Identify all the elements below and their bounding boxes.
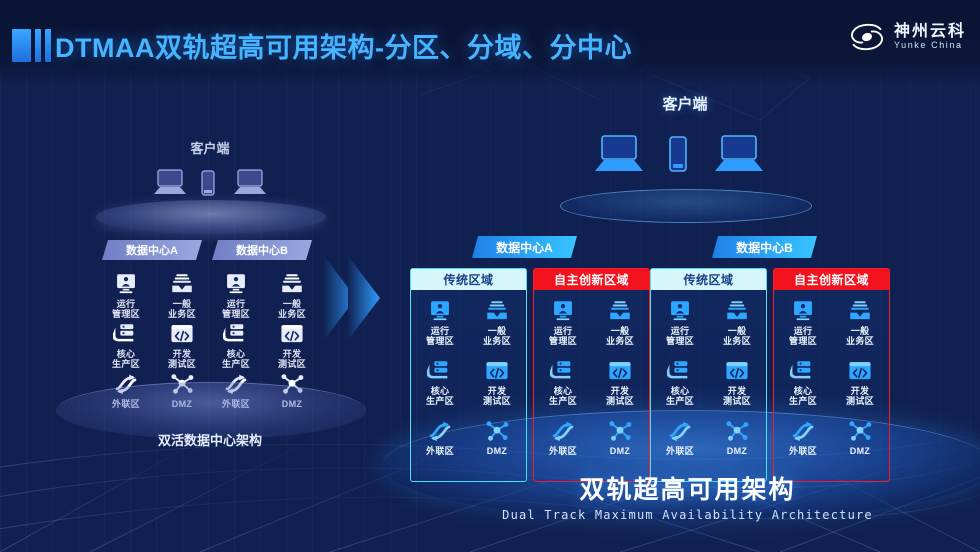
logo-name-cn: 神州云科 xyxy=(894,24,966,41)
zone-label: 核心生产区 xyxy=(413,386,467,407)
zone-label: 运行管理区 xyxy=(413,326,467,347)
right-client-platform xyxy=(560,189,812,223)
zone-运行管理区[interactable]: 运行管理区 xyxy=(100,272,152,320)
zone-grid: 运行管理区 一般业务区 核心生产区 开发测试区 外联区 DMZ xyxy=(411,295,526,480)
zone-开发测试区[interactable]: 开发测试区 xyxy=(470,359,524,407)
zone-label: DMZ xyxy=(710,446,764,456)
header-bar: DTMAA双轨超高可用架构-分区、分域、分中心 神州云科 Yunke China xyxy=(0,0,980,86)
zone-label: 核心生产区 xyxy=(536,386,590,407)
left-phone-icon xyxy=(200,170,216,203)
zone-label: 一般业务区 xyxy=(470,326,524,347)
main-caption-cn: 双轨超高可用架构 xyxy=(390,470,980,506)
zone-grid: 运行管理区 一般业务区 核心生产区 开发测试区 外联区 DMZ xyxy=(534,295,649,480)
code-window-icon xyxy=(847,359,873,383)
zone-label: 一般业务区 xyxy=(593,326,647,347)
zone-column-traditional[interactable]: 传统区域 运行管理区 一般业务区 核心生产区 开发测试区 外联区 xyxy=(650,268,767,482)
code-window-icon xyxy=(607,359,633,383)
left-laptop-2-icon xyxy=(232,168,268,203)
zone-开发测试区[interactable]: 开发测试区 xyxy=(710,359,764,407)
zone-核心生产区[interactable]: 核心生产区 xyxy=(100,322,152,370)
left-datacenter-badge-2[interactable]: 数据中心B xyxy=(212,240,312,260)
zone-label: 一般业务区 xyxy=(156,299,208,320)
zone-label: 外联区 xyxy=(413,446,467,456)
zone-label: 核心生产区 xyxy=(100,349,152,370)
zone-label: 核心生产区 xyxy=(210,349,262,370)
zone-label: 核心生产区 xyxy=(776,386,830,407)
legacy-architecture-panel: 客户端 数据中心A 运行管理区 xyxy=(60,120,360,460)
datacenter-group-1: 数据中心A传统区域 运行管理区 一般业务区 核心生产区 开发测试区 外联区 xyxy=(410,240,665,480)
left-client-platform xyxy=(96,200,326,234)
right-laptop-1-icon xyxy=(593,133,645,182)
zone-label: 外联区 xyxy=(653,446,707,456)
zone-label: DMZ xyxy=(470,446,524,456)
layers-tray-icon xyxy=(847,299,873,323)
zone-column-traditional[interactable]: 传统区域 运行管理区 一般业务区 核心生产区 开发测试区 外联区 xyxy=(410,268,527,482)
dtmaa-architecture-panel: 客户端 数据中心A传统区域 运行管理区 xyxy=(395,85,980,485)
right-phone-icon xyxy=(667,135,689,180)
zone-label: 外联区 xyxy=(776,446,830,456)
zone-column-innovation[interactable]: 自主创新区域 运行管理区 一般业务区 核心生产区 开发测试区 外联区 xyxy=(773,268,890,482)
network-nodes-icon xyxy=(724,419,750,443)
zone-运行管理区[interactable]: 运行管理区 xyxy=(536,299,590,347)
layers-tray-icon xyxy=(484,299,510,323)
zone-DMZ[interactable]: DMZ xyxy=(833,419,887,456)
layers-tray-icon xyxy=(169,272,195,296)
zone-一般业务区[interactable]: 一般业务区 xyxy=(266,272,318,320)
datacenter-badge-1[interactable]: 数据中心A xyxy=(472,236,577,258)
monitor-user-icon xyxy=(427,299,453,323)
server-stack-icon xyxy=(113,322,139,346)
server-stack-icon xyxy=(427,359,453,383)
left-laptop-1-icon xyxy=(152,168,188,203)
monitor-user-icon xyxy=(223,272,249,296)
zone-label: 开发测试区 xyxy=(593,386,647,407)
right-client-label: 客户端 xyxy=(570,93,800,114)
zone-运行管理区[interactable]: 运行管理区 xyxy=(210,272,262,320)
zone-grid: 运行管理区 一般业务区 核心生产区 开发测试区 外联区 DMZ xyxy=(774,295,889,480)
zone-外联区[interactable]: 外联区 xyxy=(653,419,707,456)
zone-label: DMZ xyxy=(593,446,647,456)
zone-label: 开发测试区 xyxy=(266,349,318,370)
zone-label: 运行管理区 xyxy=(653,326,707,347)
zone-核心生产区[interactable]: 核心生产区 xyxy=(413,359,467,407)
server-stack-icon xyxy=(790,359,816,383)
exchange-arrows-icon xyxy=(790,419,816,443)
zone-DMZ[interactable]: DMZ xyxy=(470,419,524,456)
right-laptop-2-icon xyxy=(713,133,765,182)
zone-label: 开发测试区 xyxy=(710,386,764,407)
zone-开发测试区[interactable]: 开发测试区 xyxy=(833,359,887,407)
transition-arrow-icon xyxy=(322,252,388,344)
monitor-user-icon xyxy=(550,299,576,323)
zone-label: DMZ xyxy=(833,446,887,456)
zone-运行管理区[interactable]: 运行管理区 xyxy=(776,299,830,347)
code-window-icon xyxy=(279,322,305,346)
network-nodes-icon xyxy=(607,419,633,443)
zone-column-title: 传统区域 xyxy=(411,269,526,290)
datacenter-badge-2[interactable]: 数据中心B xyxy=(712,236,817,258)
zone-外联区[interactable]: 外联区 xyxy=(536,419,590,456)
code-window-icon xyxy=(724,359,750,383)
zone-label: 开发测试区 xyxy=(470,386,524,407)
zone-column-title: 传统区域 xyxy=(651,269,766,290)
monitor-user-icon xyxy=(790,299,816,323)
zone-核心生产区[interactable]: 核心生产区 xyxy=(653,359,707,407)
zone-label: 开发测试区 xyxy=(833,386,887,407)
zone-一般业务区[interactable]: 一般业务区 xyxy=(156,272,208,320)
layers-tray-icon xyxy=(607,299,633,323)
server-stack-icon xyxy=(223,322,249,346)
galaxy-swirl-icon xyxy=(848,22,886,52)
zone-运行管理区[interactable]: 运行管理区 xyxy=(653,299,707,347)
zone-column-title: 自主创新区域 xyxy=(534,269,649,290)
page-title: DTMAA双轨超高可用架构-分区、分域、分中心 xyxy=(55,26,632,65)
bars-icon xyxy=(12,29,51,62)
zone-label: 开发测试区 xyxy=(156,349,208,370)
zone-DMZ[interactable]: DMZ xyxy=(593,419,647,456)
left-panel-caption: 双活数据中心架构 xyxy=(90,430,330,449)
layers-tray-icon xyxy=(279,272,305,296)
monitor-user-icon xyxy=(113,272,139,296)
slide-canvas: DTMAA双轨超高可用架构-分区、分域、分中心 神州云科 Yunke China… xyxy=(0,0,980,552)
logo-name-en: Yunke China xyxy=(894,41,966,50)
zone-外联区[interactable]: 外联区 xyxy=(776,419,830,456)
left-client-label: 客户端 xyxy=(140,138,280,157)
exchange-arrows-icon xyxy=(550,419,576,443)
zone-核心生产区[interactable]: 核心生产区 xyxy=(210,322,262,370)
zone-label: 运行管理区 xyxy=(210,299,262,320)
zone-label: 核心生产区 xyxy=(653,386,707,407)
zone-DMZ[interactable]: DMZ xyxy=(710,419,764,456)
zone-label: 运行管理区 xyxy=(536,326,590,347)
main-caption: 双轨超高可用架构 Dual Track Maximum Availability… xyxy=(390,470,980,522)
code-window-icon xyxy=(484,359,510,383)
brand-logo: 神州云科 Yunke China xyxy=(848,22,966,52)
zone-开发测试区[interactable]: 开发测试区 xyxy=(266,322,318,370)
zone-column-innovation[interactable]: 自主创新区域 运行管理区 一般业务区 核心生产区 开发测试区 外联区 xyxy=(533,268,650,482)
exchange-arrows-icon xyxy=(667,419,693,443)
zone-运行管理区[interactable]: 运行管理区 xyxy=(413,299,467,347)
zone-label: 运行管理区 xyxy=(776,326,830,347)
zone-grid: 运行管理区 一般业务区 核心生产区 开发测试区 外联区 DMZ xyxy=(651,295,766,480)
zone-label: 外联区 xyxy=(536,446,590,456)
monitor-user-icon xyxy=(667,299,693,323)
zone-label: 一般业务区 xyxy=(266,299,318,320)
zone-一般业务区[interactable]: 一般业务区 xyxy=(710,299,764,347)
left-datacenter-badge-1[interactable]: 数据中心A xyxy=(102,240,202,260)
zone-核心生产区[interactable]: 核心生产区 xyxy=(776,359,830,407)
zone-label: 运行管理区 xyxy=(100,299,152,320)
main-caption-en: Dual Track Maximum Availability Architec… xyxy=(390,508,980,522)
server-stack-icon xyxy=(667,359,693,383)
zone-一般业务区[interactable]: 一般业务区 xyxy=(470,299,524,347)
zone-核心生产区[interactable]: 核心生产区 xyxy=(536,359,590,407)
zone-label: 一般业务区 xyxy=(710,326,764,347)
zone-label: 一般业务区 xyxy=(833,326,887,347)
zone-外联区[interactable]: 外联区 xyxy=(413,419,467,456)
code-window-icon xyxy=(169,322,195,346)
exchange-arrows-icon xyxy=(427,419,453,443)
layers-tray-icon xyxy=(724,299,750,323)
network-nodes-icon xyxy=(847,419,873,443)
zone-column-title: 自主创新区域 xyxy=(774,269,889,290)
zone-开发测试区[interactable]: 开发测试区 xyxy=(593,359,647,407)
datacenter-group-2: 数据中心B传统区域 运行管理区 一般业务区 核心生产区 开发测试区 外联区 xyxy=(650,240,905,480)
zone-开发测试区[interactable]: 开发测试区 xyxy=(156,322,208,370)
server-stack-icon xyxy=(550,359,576,383)
zone-一般业务区[interactable]: 一般业务区 xyxy=(593,299,647,347)
zone-一般业务区[interactable]: 一般业务区 xyxy=(833,299,887,347)
network-nodes-icon xyxy=(484,419,510,443)
